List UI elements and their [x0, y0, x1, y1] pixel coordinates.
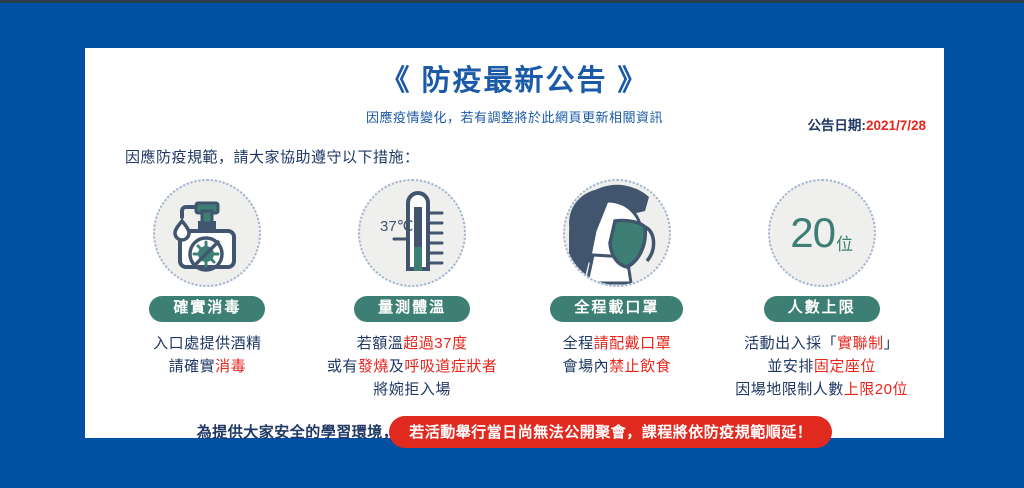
- card-header: 《 防疫最新公告 》 因應疫情變化，若有調整將於此網頁更新相關資訊 公告日期:2…: [85, 48, 944, 138]
- desc-line: 若額溫超過37度: [327, 332, 498, 355]
- desc-segment-highlight: 禁止飲食: [609, 358, 671, 375]
- desc-segment: 並安排: [767, 358, 814, 375]
- measure-badge-sanitizer: 確實消毒: [149, 296, 265, 322]
- desc-line: 會場內禁止飲食: [563, 355, 672, 378]
- measure-desc-mask: 全程請配戴口罩 會場內禁止飲食: [563, 332, 672, 379]
- announcement-card: 《 防疫最新公告 》 因應疫情變化，若有調整將於此網頁更新相關資訊 公告日期:2…: [85, 48, 944, 438]
- measure-desc-temperature: 若額溫超過37度 或有發燒及呼吸道症狀者 將婉拒入場: [327, 332, 498, 402]
- desc-segment: 入口處提供酒精: [153, 335, 262, 352]
- face-mask-icon: [563, 179, 671, 287]
- face-mask-glyph: [563, 179, 671, 287]
- desc-segment-highlight: 發燒: [358, 358, 389, 375]
- desc-segment: 若額溫: [357, 335, 404, 352]
- desc-segment-highlight: 消毒: [215, 358, 246, 375]
- desc-segment: 會場內: [563, 358, 610, 375]
- desc-segment: 全程: [563, 335, 594, 352]
- measure-item-sanitizer: 確實消毒 入口處提供酒精 請確實消毒: [105, 179, 310, 402]
- measure-desc-sanitizer: 入口處提供酒精 請確實消毒: [153, 332, 262, 379]
- capacity-number: 20: [790, 212, 835, 254]
- announcement-date: 公告日期:2021/7/28: [807, 114, 926, 134]
- measures-row: 確實消毒 入口處提供酒精 請確實消毒: [85, 179, 944, 402]
- measure-item-mask: 全程載口罩 全程請配戴口罩 會場內禁止飲食: [515, 179, 720, 402]
- desc-segment: 及: [389, 358, 405, 375]
- desc-line: 請確實消毒: [153, 355, 262, 378]
- measure-badge-capacity: 人數上限: [764, 296, 880, 322]
- top-edge-rule: [0, 0, 1024, 3]
- desc-segment-highlight: 呼吸道症狀者: [404, 358, 497, 375]
- measure-item-temperature: 37℃ 量測體溫 若額溫超過37度 或有發燒及呼吸道症狀者 將婉拒入場: [310, 179, 515, 402]
- banner-notice-pill: 若活動舉行當日尚無法公開聚會，課程將依防疫規範順延！: [389, 416, 832, 448]
- desc-segment-highlight: 固定座位: [814, 358, 876, 375]
- measure-desc-capacity: 活動出入採「實聯制」 並安排固定座位 因場地限制人數上限20位: [735, 332, 908, 402]
- intro-text: 因應防疫規範，請大家協助遵守以下措施：: [85, 146, 944, 167]
- desc-line: 因場地限制人數上限20位: [735, 378, 908, 401]
- page-title: 《 防疫最新公告 》: [85, 48, 944, 98]
- desc-segment-highlight: 上限20位: [844, 381, 908, 398]
- desc-line: 活動出入採「實聯制」: [735, 332, 908, 355]
- desc-line: 將婉拒入場: [327, 378, 498, 401]
- desc-line: 入口處提供酒精: [153, 332, 262, 355]
- desc-line: 全程請配戴口罩: [563, 332, 672, 355]
- desc-segment: 」: [884, 335, 900, 352]
- desc-segment: 或有: [327, 358, 358, 375]
- desc-segment-highlight: 超過37度: [403, 335, 467, 352]
- desc-segment: 活動出入採「: [744, 335, 837, 352]
- desc-segment: 因場地限制人數: [735, 381, 844, 398]
- thermometer-glyph: 37℃: [358, 179, 466, 287]
- hand-sanitizer-icon: [153, 179, 261, 287]
- bottom-banner: 為提供大家安全的學習環境， 若活動舉行當日尚無法公開聚會，課程將依防疫規範順延！: [85, 416, 944, 448]
- announcement-date-value: 2021/7/28: [866, 118, 926, 133]
- desc-segment-highlight: 請配戴口罩: [594, 335, 672, 352]
- desc-segment: 將婉拒入場: [373, 381, 451, 398]
- desc-segment-highlight: 實聯制: [837, 335, 884, 352]
- capacity-limit-icon: 20 位: [768, 179, 876, 287]
- desc-segment: 請確實: [169, 358, 216, 375]
- measure-badge-mask: 全程載口罩: [550, 296, 683, 322]
- banner-lead-text: 為提供大家安全的學習環境，: [197, 421, 399, 442]
- capacity-number-group: 20 位: [768, 179, 876, 287]
- thermometer-icon: 37℃: [358, 179, 466, 287]
- thermometer-value-text: 37℃: [380, 218, 414, 235]
- measure-badge-temperature: 量測體溫: [354, 296, 470, 322]
- desc-line: 或有發燒及呼吸道症狀者: [327, 355, 498, 378]
- desc-line: 並安排固定座位: [735, 355, 908, 378]
- hand-sanitizer-glyph: [153, 179, 261, 287]
- capacity-unit: 位: [836, 230, 853, 255]
- announcement-date-label: 公告日期:: [807, 118, 866, 133]
- measure-item-capacity: 20 位 人數上限 活動出入採「實聯制」 並安排固定座位 因場地限制人數上限20…: [719, 179, 924, 402]
